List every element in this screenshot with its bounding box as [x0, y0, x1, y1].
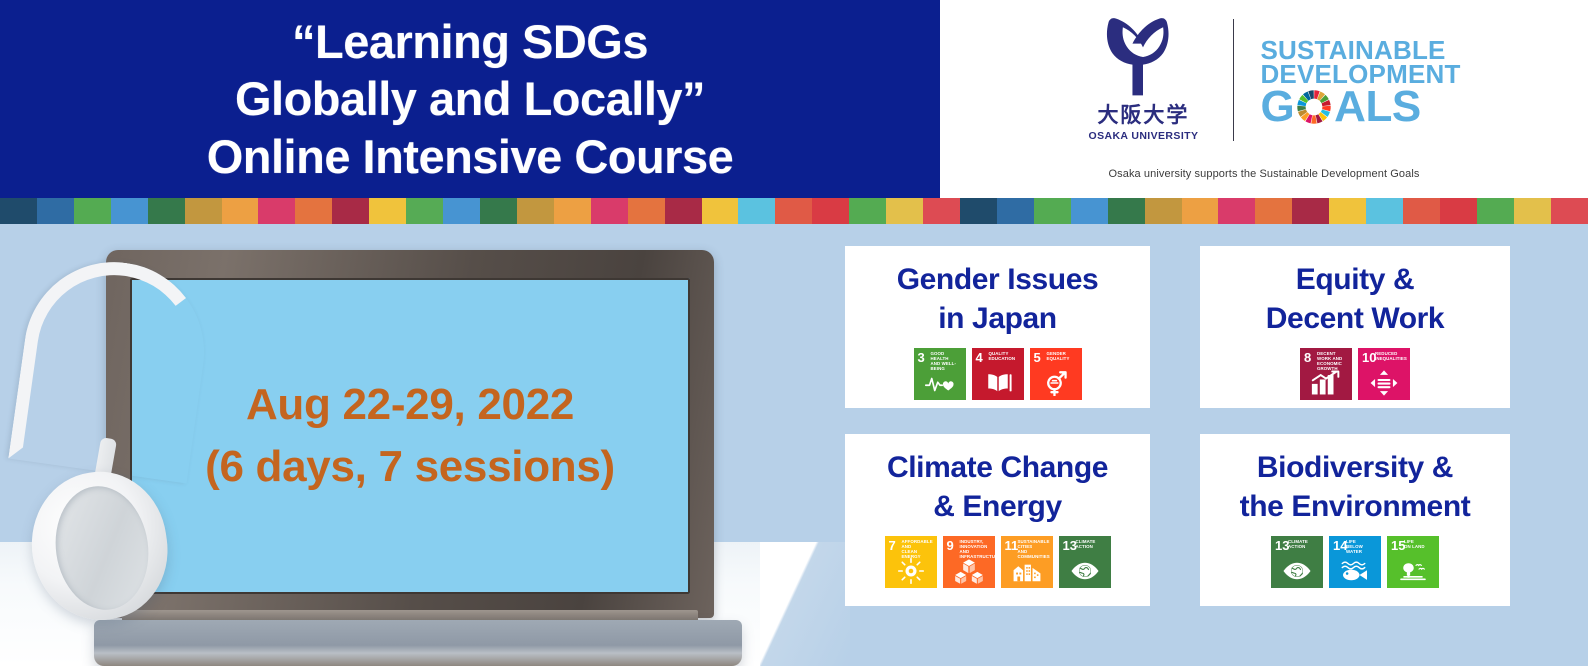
sdg-logo: SUSTAINABLE DEVELOPMENT G ALS — [1260, 39, 1460, 127]
strip-block-28 — [1034, 198, 1071, 224]
strip-block-8 — [295, 198, 332, 224]
strip-block-7 — [258, 198, 295, 224]
strip-block-37 — [1366, 198, 1403, 224]
sdg-goal-label: GENDER EQUALITY — [1047, 352, 1080, 362]
sdg-course-banner: “Learning SDGs Globally and Locally” Onl… — [0, 0, 1588, 666]
strip-block-12 — [443, 198, 480, 224]
sdg-goal-list: 8DECENT WORK AND ECONOMIC GROWTH10REDUCE… — [1300, 348, 1410, 400]
strip-block-13 — [480, 198, 517, 224]
sdg-goal-number: 11 — [1005, 539, 1019, 552]
sdg-goal-13-icon[interactable]: 13CLIMATE ACTION — [1059, 536, 1111, 588]
sdg-goal-4-icon[interactable]: 4QUALITY EDUCATION — [972, 348, 1024, 400]
strip-block-38 — [1403, 198, 1440, 224]
strip-block-18 — [665, 198, 702, 224]
topic-card-title: Equity & Decent Work — [1266, 260, 1444, 338]
cubes-icon — [943, 557, 995, 585]
course-dates: Aug 22-29, 2022 (6 days, 7 sessions) — [130, 278, 690, 594]
topic-card-title: Biodiversity & the Environment — [1240, 448, 1471, 526]
topic-card-title: Climate Change & Energy — [887, 448, 1108, 526]
city-buildings-icon — [1001, 557, 1053, 585]
strip-block-36 — [1329, 198, 1366, 224]
sdg-goal-number: 8 — [1304, 351, 1311, 364]
strip-block-0 — [0, 198, 37, 224]
sdg-goal-number: 9 — [947, 539, 954, 552]
sdg-logo-g: G — [1260, 87, 1294, 127]
page-title: “Learning SDGs Globally and Locally” Onl… — [207, 13, 734, 185]
sdg-goal-number: 7 — [889, 539, 896, 552]
topic-card-biodiversity-and-the-environment[interactable]: Biodiversity & the Environment13CLIMATE … — [1200, 434, 1510, 606]
strip-block-39 — [1440, 198, 1477, 224]
growth-chart-icon — [1300, 369, 1352, 397]
sdg-goal-number: 5 — [1034, 351, 1041, 364]
sdg-goal-3-icon[interactable]: 3GOOD HEALTH AND WELL-BEING — [914, 348, 966, 400]
strip-block-3 — [111, 198, 148, 224]
logo-zone: 大阪大学 OSAKA UNIVERSITY SUSTAINABLE DEVELO… — [940, 0, 1588, 198]
sdg-goal-list: 13CLIMATE ACTION14LIFE BELOW WATER15LIFE… — [1271, 536, 1439, 588]
open-book-icon — [972, 369, 1024, 397]
strip-block-25 — [923, 198, 960, 224]
strip-block-41 — [1514, 198, 1551, 224]
strip-block-6 — [222, 198, 259, 224]
strip-block-30 — [1108, 198, 1145, 224]
laptop-lid: Aug 22-29, 2022 (6 days, 7 sessions) — [106, 250, 714, 618]
strip-block-11 — [406, 198, 443, 224]
university-name-jp: 大阪大学 — [1097, 105, 1189, 126]
sdg-color-strip — [0, 198, 1588, 224]
strip-block-42 — [1551, 198, 1588, 224]
strip-block-22 — [812, 198, 849, 224]
topic-card-climate-change-and-energy[interactable]: Climate Change & Energy7AFFORDABLE AND C… — [845, 434, 1150, 606]
strip-block-29 — [1071, 198, 1108, 224]
strip-block-15 — [554, 198, 591, 224]
laptop-base — [94, 620, 742, 666]
topic-card-equity-and-decent-work[interactable]: Equity & Decent Work8DECENT WORK AND ECO… — [1200, 246, 1510, 408]
strip-block-24 — [886, 198, 923, 224]
strip-block-31 — [1145, 198, 1182, 224]
strip-block-33 — [1218, 198, 1255, 224]
sun-power-icon — [885, 557, 937, 585]
sdg-goal-list: 7AFFORDABLE AND CLEAN ENERGY9INDUSTRY, I… — [885, 536, 1111, 588]
osaka-university-mark-icon — [1095, 11, 1191, 103]
sdg-logo-als: ALS — [1334, 87, 1421, 127]
equal-arrows-icon — [1358, 369, 1410, 397]
sdg-goal-8-icon[interactable]: 8DECENT WORK AND ECONOMIC GROWTH — [1300, 348, 1352, 400]
sdg-goal-label: LIFE BELOW WATER — [1346, 540, 1379, 555]
strip-block-10 — [369, 198, 406, 224]
sdg-goal-list: 3GOOD HEALTH AND WELL-BEING4QUALITY EDUC… — [914, 348, 1082, 400]
strip-block-21 — [775, 198, 812, 224]
strip-block-19 — [702, 198, 739, 224]
strip-block-2 — [74, 198, 111, 224]
topic-cards: Gender Issues in Japan3GOOD HEALTH AND W… — [845, 224, 1588, 666]
osaka-university-logo: 大阪大学 OSAKA UNIVERSITY — [1067, 7, 1219, 159]
logo-caption: Osaka university supports the Sustainabl… — [940, 168, 1588, 180]
headphones-image — [0, 262, 190, 622]
laptop-screen: Aug 22-29, 2022 (6 days, 7 sessions) — [130, 278, 690, 594]
sdg-goal-13-icon[interactable]: 13CLIMATE ACTION — [1271, 536, 1323, 588]
strip-block-1 — [37, 198, 74, 224]
banner-body: Aug 22-29, 2022 (6 days, 7 sessions) Gen… — [0, 224, 1588, 666]
sdg-goal-5-icon[interactable]: 5GENDER EQUALITY — [1030, 348, 1082, 400]
strip-block-35 — [1292, 198, 1329, 224]
strip-block-5 — [185, 198, 222, 224]
sdg-goal-11-icon[interactable]: 11SUSTAINABLE CITIES AND COMMUNITIES — [1001, 536, 1053, 588]
strip-block-23 — [849, 198, 886, 224]
topic-card-gender-issues-in-japan[interactable]: Gender Issues in Japan3GOOD HEALTH AND W… — [845, 246, 1150, 408]
university-name-en: OSAKA UNIVERSITY — [1089, 130, 1199, 142]
strip-block-4 — [148, 198, 185, 224]
sdg-goal-7-icon[interactable]: 7AFFORDABLE AND CLEAN ENERGY — [885, 536, 937, 588]
sdg-goal-15-icon[interactable]: 15LIFE ON LAND — [1387, 536, 1439, 588]
strip-block-27 — [997, 198, 1034, 224]
strip-block-34 — [1255, 198, 1292, 224]
sdg-goal-14-icon[interactable]: 14LIFE BELOW WATER — [1329, 536, 1381, 588]
eye-earth-icon — [1059, 557, 1111, 585]
sdg-goal-label: REDUCED INEQUALITIES — [1375, 352, 1408, 362]
sdg-goal-10-icon[interactable]: 10REDUCED INEQUALITIES — [1358, 348, 1410, 400]
strip-block-32 — [1182, 198, 1219, 224]
header-title-block: “Learning SDGs Globally and Locally” Onl… — [0, 0, 940, 198]
sdg-goal-number: 3 — [918, 351, 925, 364]
logo-divider — [1233, 19, 1234, 141]
banner-header: “Learning SDGs Globally and Locally” Onl… — [0, 0, 1588, 198]
sdg-color-wheel-icon — [1295, 88, 1333, 126]
sdg-logo-line3: G ALS — [1260, 87, 1420, 127]
sdg-goal-label: QUALITY EDUCATION — [989, 352, 1022, 362]
strip-block-9 — [332, 198, 369, 224]
fish-waves-icon — [1329, 557, 1381, 585]
sdg-goal-number: 4 — [976, 351, 983, 364]
strip-block-26 — [960, 198, 997, 224]
strip-block-40 — [1477, 198, 1514, 224]
strip-block-17 — [628, 198, 665, 224]
tree-birds-icon — [1387, 557, 1439, 585]
strip-block-14 — [517, 198, 554, 224]
gender-equality-icon — [1030, 369, 1082, 397]
sdg-goal-label: LIFE ON LAND — [1404, 540, 1437, 550]
topic-card-title: Gender Issues in Japan — [897, 260, 1099, 338]
heart-pulse-icon — [914, 369, 966, 397]
sdg-goal-label: CLIMATE ACTION — [1288, 540, 1321, 550]
sdg-goal-label: CLIMATE ACTION — [1076, 540, 1109, 550]
strip-block-16 — [591, 198, 628, 224]
eye-earth-icon — [1271, 557, 1323, 585]
sdg-goal-9-icon[interactable]: 9INDUSTRY, INNOVATION AND INFRASTRUCTURE — [943, 536, 995, 588]
desk-edge — [760, 542, 850, 666]
strip-block-20 — [738, 198, 775, 224]
